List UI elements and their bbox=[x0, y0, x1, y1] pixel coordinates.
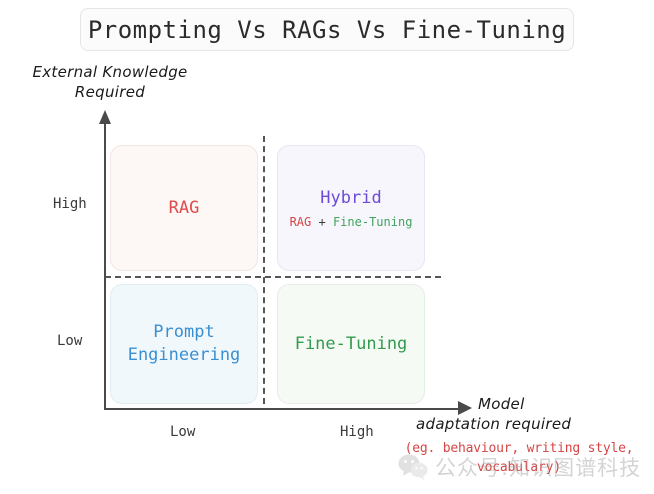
quadrant-label-hybrid: Hybrid bbox=[320, 187, 381, 210]
sublabel-plus: + bbox=[318, 215, 325, 229]
sublabel-rag: RAG bbox=[290, 215, 312, 229]
y-axis-title-line1: External Knowledge bbox=[32, 63, 187, 81]
x-axis-arrow-icon bbox=[458, 401, 472, 415]
quadrant-card-rag: RAG bbox=[110, 145, 258, 271]
quadrant-sublabel-hybrid: RAG + Fine-Tuning bbox=[290, 215, 413, 229]
diagram-title-box: Prompting Vs RAGs Vs Fine-Tuning bbox=[80, 8, 574, 51]
quadrant-card-hybrid: Hybrid RAG + Fine-Tuning bbox=[277, 145, 425, 271]
x-axis-title: Model adaptation required bbox=[478, 394, 654, 435]
vertical-divider bbox=[263, 136, 265, 404]
quadrant-diagram-canvas: Prompting Vs RAGs Vs Fine-Tuning Externa… bbox=[0, 0, 654, 494]
quadrant-card-fine-tuning: Fine-Tuning bbox=[277, 284, 425, 404]
y-axis-title-line2: Required bbox=[75, 83, 145, 101]
y-axis-arrow-icon bbox=[99, 110, 111, 124]
x-axis-tick-high: High bbox=[340, 424, 374, 440]
quadrant-label-fine-tuning: Fine-Tuning bbox=[295, 333, 408, 356]
quadrant-label-rag: RAG bbox=[169, 197, 200, 220]
sublabel-fine-tuning: Fine-Tuning bbox=[333, 215, 412, 229]
y-axis-title: External Knowledge Required bbox=[10, 62, 210, 103]
x-axis-title-line2: adaptation required bbox=[416, 414, 654, 434]
y-axis-tick-high: High bbox=[53, 196, 87, 212]
y-axis-tick-low: Low bbox=[57, 333, 82, 349]
quadrant-label-prompt-engineering: Prompt Engineering bbox=[128, 321, 241, 367]
quadrant-card-prompt-engineering: Prompt Engineering bbox=[110, 284, 258, 404]
x-axis-tick-low: Low bbox=[170, 424, 195, 440]
x-axis-line bbox=[104, 408, 460, 410]
y-axis-line bbox=[104, 122, 106, 410]
horizontal-divider bbox=[105, 276, 441, 278]
x-axis-title-line1: Model bbox=[478, 394, 654, 414]
x-axis-note: (eg. behaviour, writing style, vocabular… bbox=[384, 440, 654, 478]
page-title: Prompting Vs RAGs Vs Fine-Tuning bbox=[88, 16, 566, 44]
